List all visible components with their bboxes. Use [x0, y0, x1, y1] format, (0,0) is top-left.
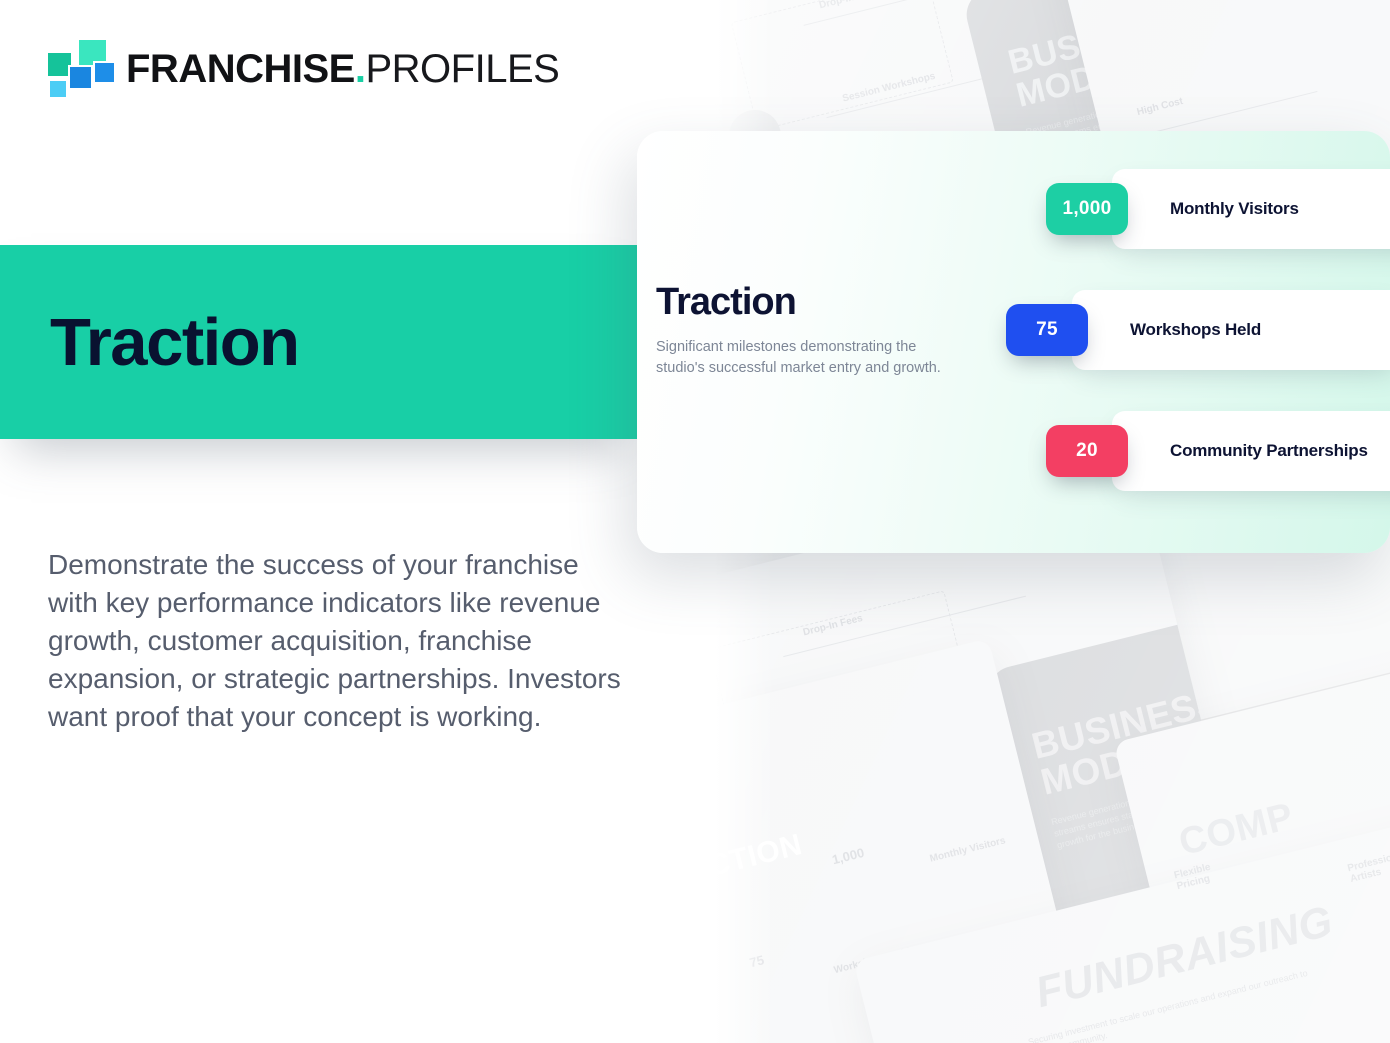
background-slide-label: Professional Artists: [1346, 842, 1390, 885]
stat-row: 20 Community Partnerships: [1046, 411, 1390, 491]
stat-label: Community Partnerships: [1170, 440, 1368, 462]
stat-value: 20: [1076, 440, 1098, 462]
slide-preview-card[interactable]: Traction Significant milestones demonstr…: [637, 131, 1390, 553]
background-slide-label: Monthly Visitors: [929, 835, 1007, 864]
stat-panel: Community Partnerships: [1112, 411, 1390, 491]
stat-panel: Workshops Held: [1072, 290, 1390, 370]
page-title: Traction: [50, 309, 299, 376]
section-description: Demonstrate the success of your franchis…: [48, 546, 623, 736]
stat-label: Monthly Visitors: [1170, 198, 1299, 220]
preview-subtitle: Significant milestones demonstrating the…: [656, 337, 956, 380]
brand-logo: FRANCHISE.PROFILES: [48, 40, 559, 98]
brand-name-light: PROFILES: [365, 47, 559, 91]
background-slide-label: 1,000: [831, 845, 866, 867]
logo-mark-icon: [48, 40, 108, 98]
background-slide-label: Flexible Pricing: [1173, 854, 1246, 892]
preview-text-block: Traction Significant milestones demonstr…: [656, 283, 986, 380]
brand-name-dot: .: [355, 47, 366, 91]
stat-row: 1,000 Monthly Visitors: [1046, 169, 1390, 249]
background-slide-label: High Cost: [1136, 96, 1184, 118]
stat-panel: Monthly Visitors: [1112, 169, 1390, 249]
stat-row: 75 Workshops Held: [1006, 290, 1390, 370]
stat-value-badge: 20: [1046, 425, 1128, 477]
background-slide-label: 75: [748, 952, 766, 970]
section-title-banner: Traction: [0, 245, 637, 439]
stat-value: 75: [1036, 319, 1058, 341]
preview-title: Traction: [656, 283, 986, 321]
stat-value-badge: 75: [1006, 304, 1088, 356]
stat-value-badge: 1,000: [1046, 183, 1128, 235]
brand-wordmark: FRANCHISE.PROFILES: [126, 49, 559, 89]
stat-value: 1,000: [1062, 198, 1111, 220]
brand-name-bold: FRANCHISE: [126, 47, 355, 91]
background-slide-heading: TRACTION: [715, 830, 805, 898]
stat-label: Workshops Held: [1130, 319, 1261, 341]
